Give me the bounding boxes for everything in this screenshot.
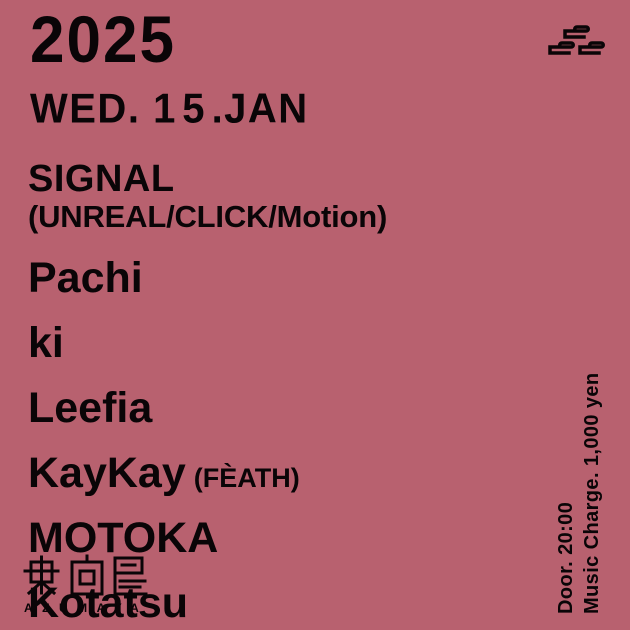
headliner-name: SIGNAL <box>28 160 498 198</box>
lineup-headliner: SIGNAL (UNREAL/CLICK/Motion) <box>28 160 498 235</box>
day-number: 15 <box>153 86 212 132</box>
act-name: Pachi <box>28 254 143 302</box>
headliner-affiliation: (UNREAL/CLICK/Motion) <box>28 200 498 235</box>
lineup-item: ki <box>28 322 498 365</box>
act-name: Leefia <box>28 384 152 432</box>
act-name: ki <box>28 319 64 367</box>
date-header: 2025 WED. 15.JAN <box>30 8 309 128</box>
act-affiliation: (FÈATH) <box>194 463 300 493</box>
door-time-label: Door. 20:00 <box>556 502 576 614</box>
event-flyer: 2025 WED. 15.JAN <box>0 0 630 630</box>
date-label: WED. 15.JAN <box>30 88 309 130</box>
event-info-rail: Door. 20:00 Music Charge. 1,000 yen <box>562 14 626 614</box>
venue-logo: AZUMAYA <box>22 553 162 614</box>
weekday-label: WED. <box>30 86 140 132</box>
year-label: 2025 <box>30 8 309 74</box>
act-name: KayKay <box>28 449 186 497</box>
music-charge-label: Music Charge. 1,000 yen <box>582 372 602 614</box>
lineup-item: Leefia <box>28 387 498 430</box>
lineup-item: KayKay(FÈATH) <box>28 452 498 495</box>
venue-kanji-icon <box>22 553 148 597</box>
lineup-item: Pachi <box>28 257 498 300</box>
venue-romaji-label: AZUMAYA <box>24 602 162 614</box>
month-label: .JAN <box>212 86 309 132</box>
